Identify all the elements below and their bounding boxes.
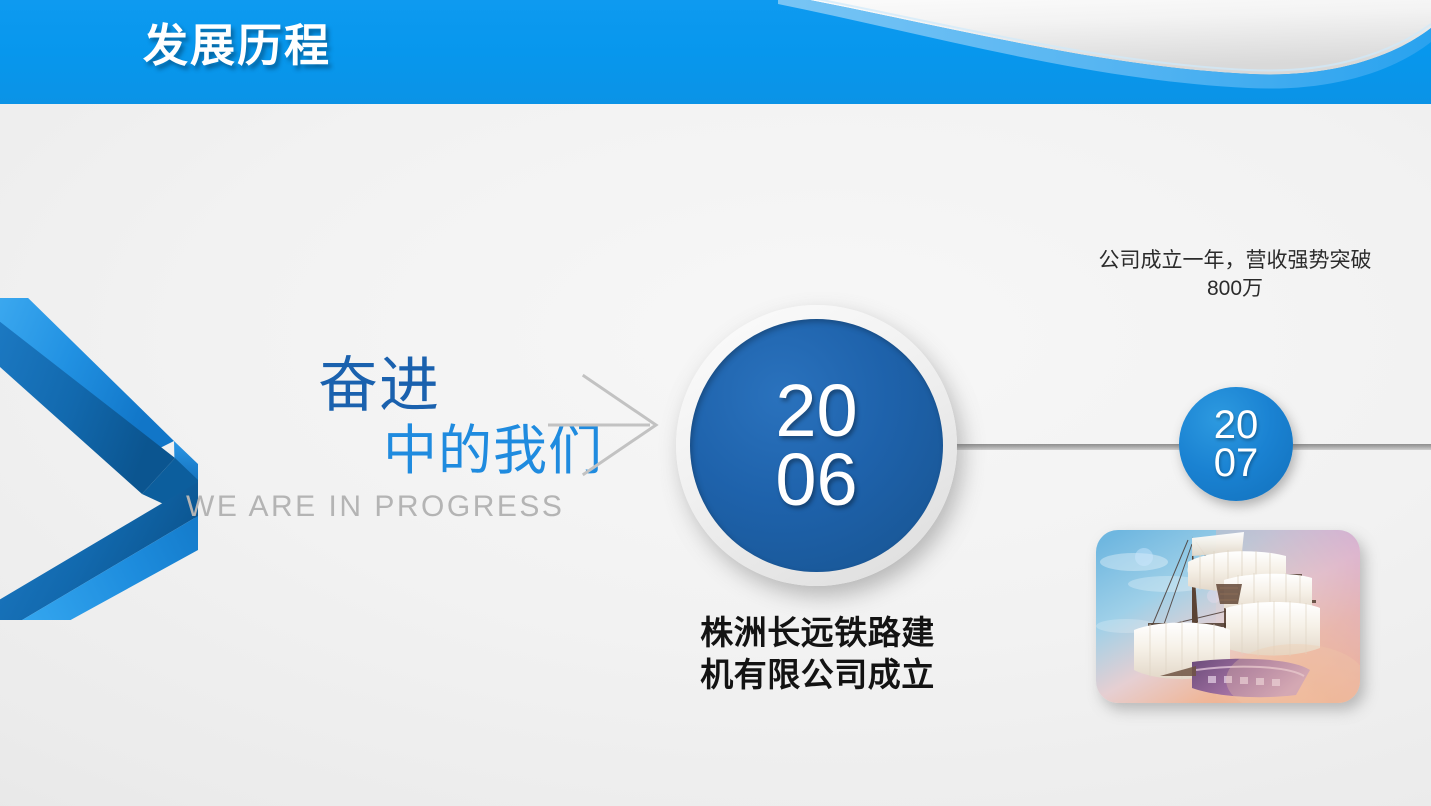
timeline-node-2007-caption: 公司成立一年，营收强势突破800万 (1090, 247, 1380, 302)
headline-main-text: 奋进 (318, 356, 440, 416)
timeline-node-2006-year-top: 20 (775, 377, 857, 445)
timeline-node-2007[interactable]: 20 07 (1179, 387, 1293, 501)
headline-english-text: WE ARE IN PROGRESS (186, 492, 564, 522)
chevron-right-3d-icon (0, 298, 207, 620)
timeline-node-2007-year-bottom: 07 (1214, 444, 1259, 482)
slide-header-banner: 发展历程 (0, 0, 1431, 104)
sailing-ship-photo (1096, 530, 1360, 703)
timeline-node-2006-caption: 株洲长远铁路建机有限公司成立 (690, 612, 945, 696)
arrow-right-icon (546, 370, 661, 480)
page-title: 发展历程 (143, 23, 331, 68)
timeline-node-2006-disc: 20 06 (690, 319, 943, 572)
timeline-node-2006[interactable]: 20 06 (676, 305, 957, 586)
headline-block: 奋进 中的我们 WE ARE IN PROGRESS (186, 356, 606, 536)
slide-canvas: 发展历程 (0, 0, 1431, 806)
timeline-node-2007-year-top: 20 (1214, 406, 1259, 444)
sailing-ship-image (1096, 530, 1360, 703)
timeline-node-2006-year-bottom: 06 (775, 446, 857, 514)
